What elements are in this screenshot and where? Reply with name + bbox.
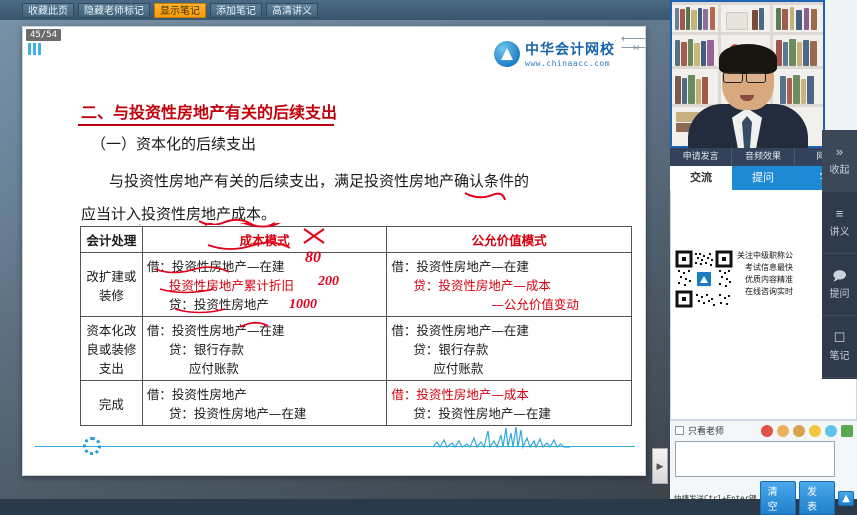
speech-bubble-icon: 🗩 bbox=[832, 269, 846, 282]
shortcut-hint: 快捷发送Ctrl+Enter键 bbox=[674, 493, 757, 504]
ink-waveform bbox=[433, 423, 633, 451]
chevron-double-right-icon: » bbox=[836, 145, 843, 158]
row-label-2: 完成 bbox=[81, 381, 143, 426]
entry-line: 贷：投资性房地产 bbox=[147, 294, 382, 313]
tab-question[interactable]: 提问 bbox=[732, 166, 794, 190]
table-row: 完成 借：投资性房地产 贷：投资性房地产—在建 借：投资性房地产—成本 贷：投资… bbox=[81, 381, 632, 426]
page-title: 二、与投资性房地产有关的后续支出 bbox=[81, 99, 337, 123]
qr-code-icon bbox=[675, 250, 733, 308]
emoji-image-icon[interactable] bbox=[841, 425, 853, 437]
table-header-row: 会计处理 成本模式 公允价值模式 bbox=[81, 227, 632, 253]
compose-actions: 快捷发送Ctrl+Enter键 清空 发表 ▲ bbox=[674, 481, 854, 515]
sidebar-item-label: 笔记 bbox=[830, 347, 850, 362]
emoji-speech-icon[interactable] bbox=[825, 425, 837, 437]
instructor-hair bbox=[719, 44, 777, 74]
body-paragraph: 与投资性房地产有关的后续支出，满足投资性房地产确认条件的 应当计入投资性房地产成… bbox=[81, 165, 631, 231]
entry-line: 借：投资性房地产—在建 bbox=[391, 256, 627, 275]
logo-title: 中华会计网校 bbox=[525, 39, 615, 59]
emoji-thumbsup-icon[interactable] bbox=[777, 425, 789, 437]
instructor-video[interactable] bbox=[670, 0, 825, 148]
row-cost-0: 借：投资性房地产—在建 投资性房地产累计折旧 贷：投资性房地产 bbox=[142, 253, 386, 317]
promo-text: 关注中级职称公 考试信息最快 优质内容精准 在线咨询实时 bbox=[737, 250, 793, 308]
emoji-victory-icon[interactable] bbox=[793, 425, 805, 437]
entry-line: —公允价值变动 bbox=[391, 294, 627, 313]
row-cost-2: 借：投资性房地产 贷：投资性房地产—在建 bbox=[142, 381, 386, 426]
site-logo: 中华会计网校 www.chinaacc.com bbox=[494, 39, 615, 68]
only-teacher-checkbox[interactable] bbox=[675, 426, 684, 435]
right-sidebar: » 收起 ≡ 讲义 🗩 提问 ☐ 笔记 bbox=[822, 130, 857, 379]
sidebar-item-label: 收起 bbox=[830, 161, 850, 176]
paragraph-line-1: 与投资性房地产有关的后续支出，满足投资性房地产确认条件的 bbox=[109, 172, 529, 190]
entry-line: 借：投资性房地产—在建 bbox=[147, 256, 382, 275]
expand-button[interactable]: ▲ bbox=[838, 491, 854, 506]
logo-url: www.chinaacc.com bbox=[525, 59, 615, 68]
glasses-left-icon bbox=[723, 72, 743, 83]
row-cost-1: 借：投资性房地产—在建 贷：银行存款 应付账款 bbox=[142, 317, 386, 381]
add-note-button[interactable]: 添加笔记 bbox=[210, 3, 262, 18]
row-fair-1: 借：投资性房地产—在建 贷：银行存款 应付账款 bbox=[387, 317, 632, 381]
header-accounting-treatment: 会计处理 bbox=[81, 227, 143, 253]
sidebar-item-question[interactable]: 🗩 提问 bbox=[822, 254, 857, 316]
courseware-toolbar: 收藏此页 隐藏老师标记 显示笔记 添加笔记 高清讲义 bbox=[0, 0, 670, 20]
emoji-smile-icon[interactable] bbox=[809, 425, 821, 437]
bookmark-page-button[interactable]: 收藏此页 bbox=[22, 3, 74, 18]
show-notes-button[interactable]: 显示笔记 bbox=[154, 3, 206, 18]
message-input[interactable] bbox=[675, 441, 835, 477]
header-cost-mode: 成本模式 bbox=[142, 227, 386, 253]
send-button[interactable]: 发表 bbox=[799, 481, 835, 515]
header-fair-value-mode: 公允价值模式 bbox=[387, 227, 632, 253]
promo-line-2: 考试信息最快 bbox=[737, 262, 793, 274]
tab-chat[interactable]: 交流 bbox=[670, 166, 732, 190]
row-label-0: 改扩建或装修 bbox=[81, 253, 143, 317]
sidebar-item-notes[interactable]: ☐ 笔记 bbox=[822, 316, 857, 378]
entry-line: 借：投资性房地产 bbox=[147, 384, 382, 403]
page-indicator: 45/54 bbox=[26, 29, 61, 41]
next-page-button[interactable]: ▶ bbox=[652, 448, 668, 484]
row-label-1: 资本化改良或装修支出 bbox=[81, 317, 143, 381]
entry-line: 应付账款 bbox=[147, 358, 382, 377]
table-row: 改扩建或装修 借：投资性房地产—在建 投资性房地产累计折旧 贷：投资性房地产 借… bbox=[81, 253, 632, 317]
entry-line: 应付账款 bbox=[391, 358, 627, 377]
entry-line: 贷：投资性房地产—成本 bbox=[391, 275, 627, 294]
paragraph-line-2: 应当计入投资性房地产成本。 bbox=[81, 205, 276, 223]
only-teacher-label: 只看老师 bbox=[688, 424, 724, 437]
entry-line: 借：投资性房地产—成本 bbox=[391, 384, 627, 403]
entry-line: 贷：银行存款 bbox=[391, 339, 627, 358]
list-icon: ≡ bbox=[836, 207, 844, 220]
book-icon: ☐ bbox=[834, 331, 846, 344]
sidebar-item-label: 提问 bbox=[830, 285, 850, 300]
collapse-arrows-icon[interactable]: ⟵⟶⟶⟵ bbox=[621, 35, 639, 53]
chat-compose-area: 只看老师 快捷发送Ctrl+Enter键 清空 发表 ▲ bbox=[670, 420, 857, 499]
promo-block: 关注中级职称公 考试信息最快 优质内容精准 在线咨询实时 bbox=[675, 250, 793, 308]
hide-teacher-marks-button[interactable]: 隐藏老师标记 bbox=[78, 3, 150, 18]
request-to-speak-button[interactable]: 申请发言 bbox=[670, 148, 732, 166]
audio-effects-button[interactable]: 音频效果 bbox=[732, 148, 794, 166]
row-fair-0: 借：投资性房地产—在建 贷：投资性房地产—成本 —公允价值变动 bbox=[387, 253, 632, 317]
ink-circle-mark bbox=[83, 437, 101, 455]
entry-line: 投资性房地产累计折旧 bbox=[147, 275, 382, 294]
logo-mark-icon bbox=[494, 41, 520, 67]
glasses-right-icon bbox=[746, 72, 766, 83]
entry-line: 贷：银行存款 bbox=[147, 339, 382, 358]
slide-canvas[interactable]: 45/54 中华会计网校 www.chinaacc.com ⟵⟶⟶⟵ 二、与投资… bbox=[22, 26, 646, 476]
entry-line: 借：投资性房地产—在建 bbox=[391, 320, 627, 339]
entry-line: 贷：投资性房地产—在建 bbox=[391, 403, 627, 422]
promo-line-4: 在线咨询实时 bbox=[737, 286, 793, 298]
hd-handout-button[interactable]: 高清讲义 bbox=[266, 3, 318, 18]
courseware-region: 收藏此页 隐藏老师标记 显示笔记 添加笔记 高清讲义 45/54 中华会计网校 … bbox=[0, 0, 670, 499]
table-row: 资本化改良或装修支出 借：投资性房地产—在建 贷：银行存款 应付账款 借：投资性… bbox=[81, 317, 632, 381]
entry-line: 借：投资性房地产—在建 bbox=[147, 320, 382, 339]
page-bars-icon bbox=[28, 43, 41, 55]
row-fair-2: 借：投资性房地产—成本 贷：投资性房地产—在建 bbox=[387, 381, 632, 426]
sidebar-item-collapse[interactable]: » 收起 bbox=[822, 130, 857, 192]
sidebar-item-handout[interactable]: ≡ 讲义 bbox=[822, 192, 857, 254]
compose-toolbar: 只看老师 bbox=[670, 421, 857, 437]
accounting-treatment-table: 会计处理 成本模式 公允价值模式 改扩建或装修 借：投资性房地产—在建 投资性房… bbox=[80, 226, 632, 426]
section-subtitle: （一）资本化的后续支出 bbox=[91, 133, 256, 154]
sidebar-item-label: 讲义 bbox=[830, 223, 850, 238]
entry-line: 贷：投资性房地产—在建 bbox=[147, 403, 382, 422]
promo-line-3: 优质内容精准 bbox=[737, 274, 793, 286]
promo-line-1: 关注中级职称公 bbox=[737, 250, 793, 262]
clear-button[interactable]: 清空 bbox=[760, 481, 796, 515]
emoji-rose-icon[interactable] bbox=[761, 425, 773, 437]
